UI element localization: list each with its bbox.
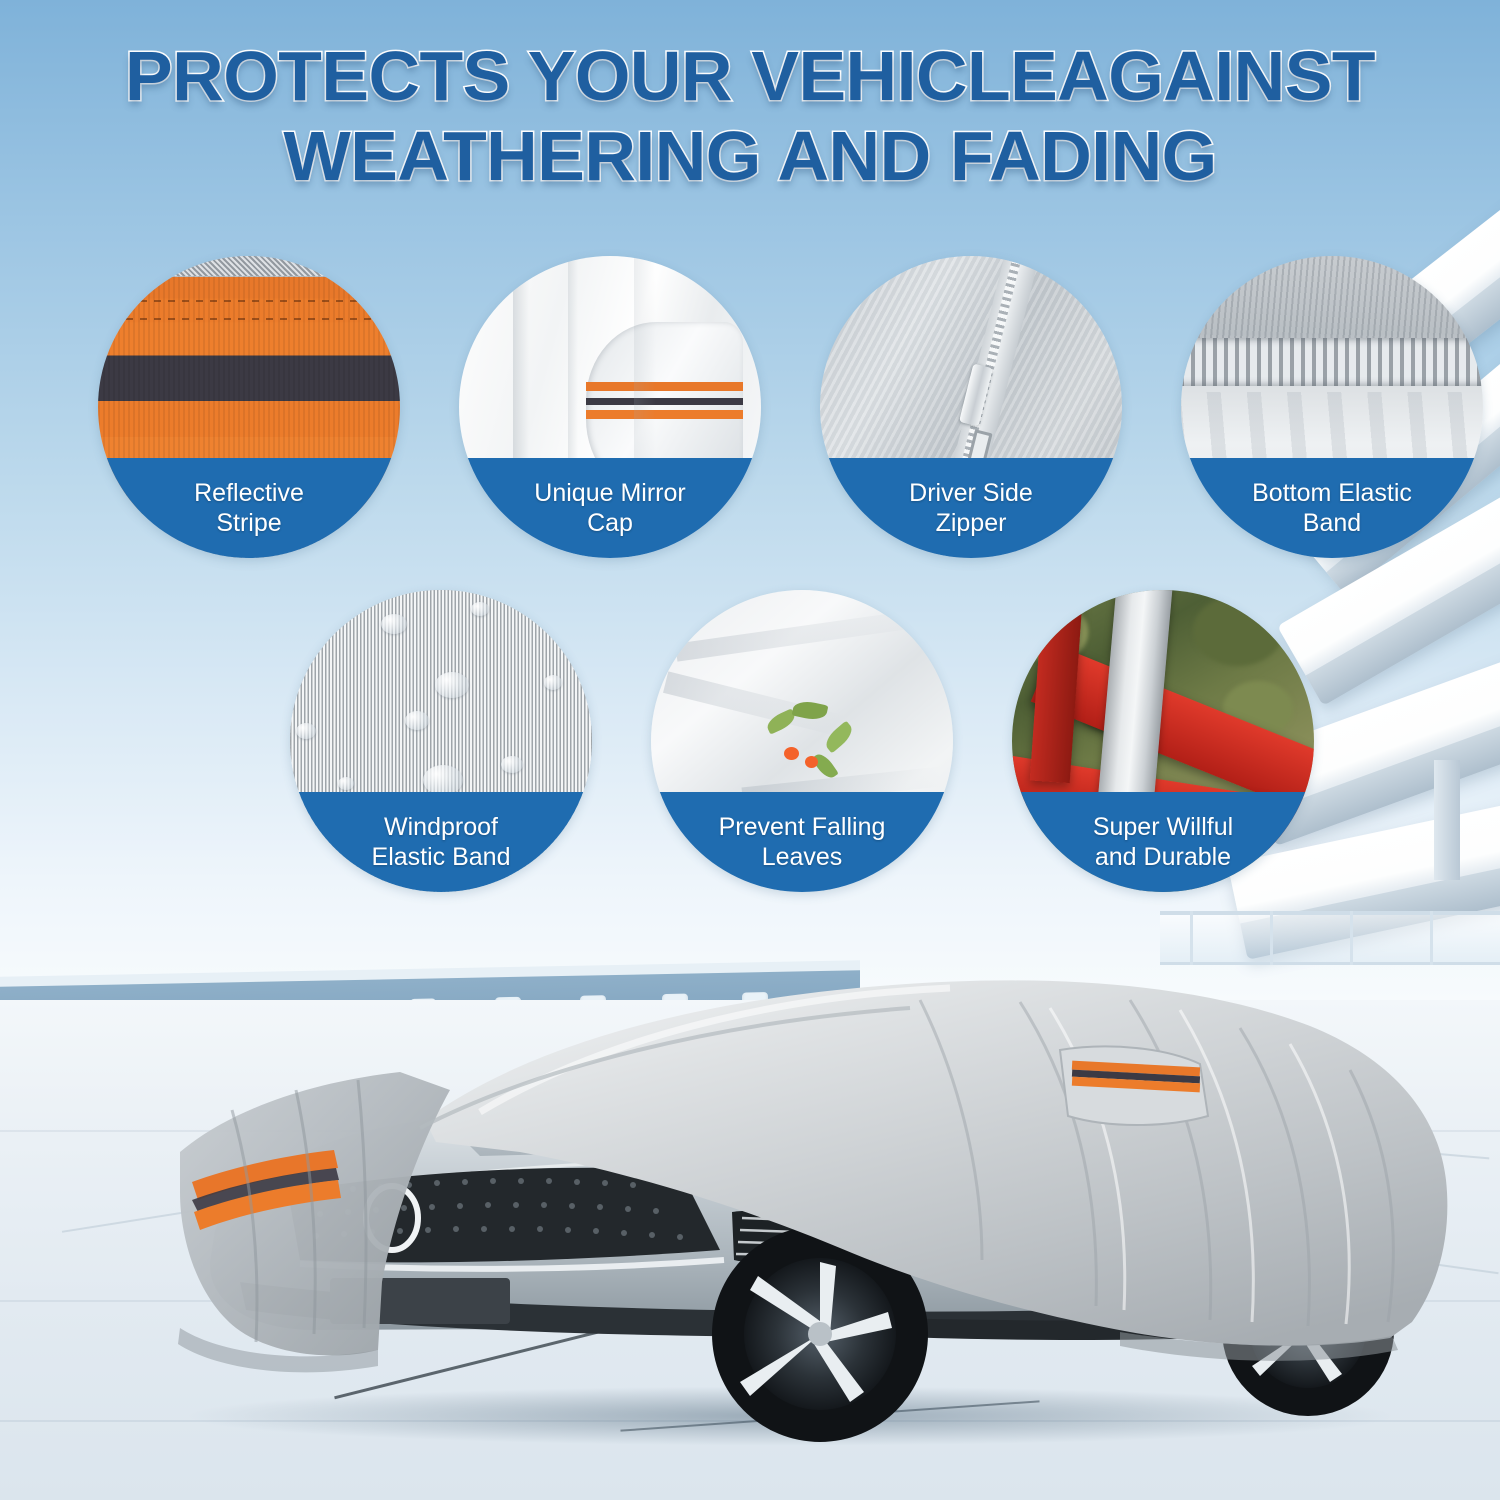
- feature-label-driver-side-zipper: Driver Side Zipper: [820, 458, 1122, 558]
- feature-driver-side-zipper[interactable]: Driver Side Zipper: [820, 256, 1122, 558]
- headline-line-1: PROTECTS YOUR VEHICLEAGAINST: [125, 37, 1375, 115]
- label-line-1: Reflective: [194, 478, 304, 508]
- label-line-2: Elastic Band: [372, 842, 511, 872]
- label-line-2: Band: [1252, 508, 1412, 538]
- feature-label-super-willful-and-durable: Super Willful and Durable: [1012, 792, 1314, 892]
- feature-label-unique-mirror-cap: Unique Mirror Cap: [459, 458, 761, 558]
- label-line-1: Windproof: [372, 812, 511, 842]
- feature-unique-mirror-cap[interactable]: Unique Mirror Cap: [459, 256, 761, 558]
- cover-mirror-pocket: [1060, 1046, 1208, 1125]
- product-infographic: PROTECTS YOUR VEHICLEAGAINST WEATHERING …: [0, 0, 1500, 1500]
- label-line-2: Stripe: [194, 508, 304, 538]
- label-line-2: and Durable: [1093, 842, 1233, 872]
- support-pillar: [1434, 760, 1460, 880]
- label-line-2: Zipper: [909, 508, 1033, 538]
- feature-prevent-falling-leaves[interactable]: Prevent Falling Leaves: [651, 590, 953, 892]
- feature-super-willful-and-durable[interactable]: Super Willful and Durable: [1012, 590, 1314, 892]
- feature-bottom-elastic-band[interactable]: Bottom Elastic Band: [1181, 256, 1483, 558]
- feature-label-bottom-elastic-band: Bottom Elastic Band: [1181, 458, 1483, 558]
- covered-car-photo: [120, 930, 1450, 1460]
- page-title: PROTECTS YOUR VEHICLEAGAINST WEATHERING …: [0, 36, 1500, 196]
- label-line-1: Super Willful: [1093, 812, 1233, 842]
- feature-windproof-elastic-band[interactable]: Windproof Elastic Band: [290, 590, 592, 892]
- label-line-1: Prevent Falling: [719, 812, 886, 842]
- feature-label-prevent-falling-leaves: Prevent Falling Leaves: [651, 792, 953, 892]
- label-line-1: Unique Mirror: [534, 478, 685, 508]
- berry-icon: [784, 747, 799, 760]
- label-line-2: Leaves: [719, 842, 886, 872]
- label-line-1: Bottom Elastic: [1252, 478, 1412, 508]
- headline-line-2: WEATHERING AND FADING: [0, 116, 1500, 196]
- feature-reflective-stripe[interactable]: Reflective Stripe: [98, 256, 400, 558]
- feature-label-reflective-stripe: Reflective Stripe: [98, 458, 400, 558]
- label-line-2: Cap: [534, 508, 685, 538]
- label-line-1: Driver Side: [909, 478, 1033, 508]
- feature-label-windproof-elastic-band: Windproof Elastic Band: [290, 792, 592, 892]
